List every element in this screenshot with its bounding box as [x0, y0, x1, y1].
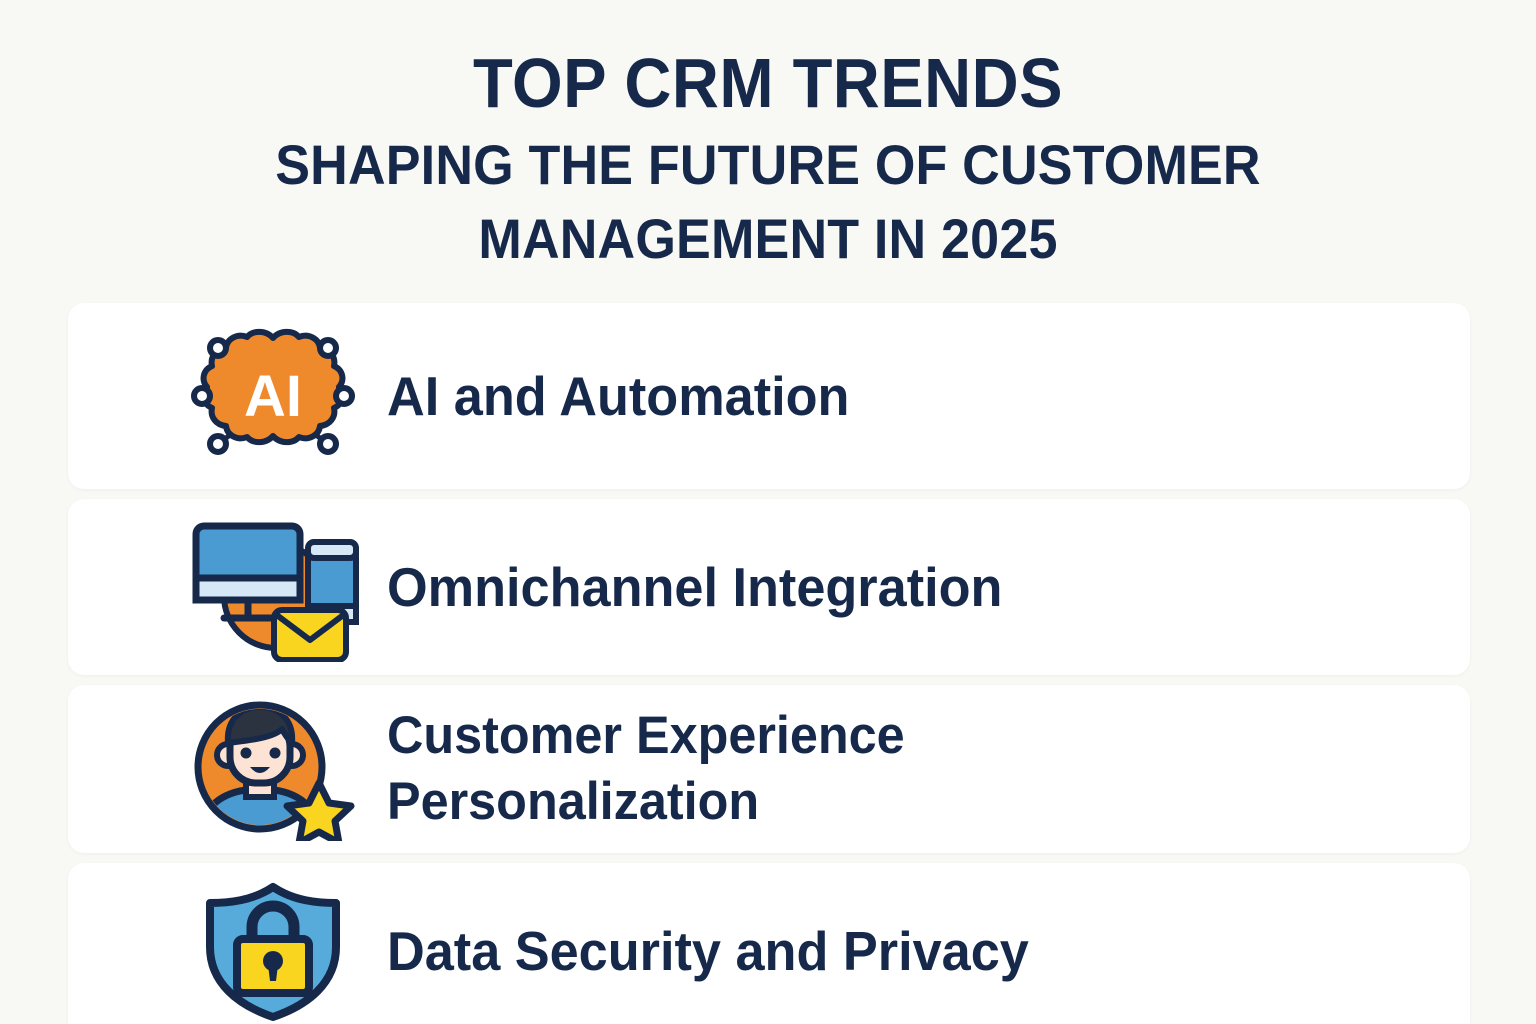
trend-list: AI AI and Automation: [68, 303, 1470, 1024]
shield-lock-icon: [173, 879, 373, 1023]
svg-text:AI: AI: [244, 364, 302, 429]
infographic-page: TOP CRM TRENDS SHAPING THE FUTURE OF CUS…: [0, 0, 1536, 1024]
trend-card-ai-automation[interactable]: AI AI and Automation: [68, 303, 1470, 489]
header: TOP CRM TRENDS SHAPING THE FUTURE OF CUS…: [0, 46, 1536, 276]
customer-star-avatar-icon: [173, 697, 373, 841]
trend-label-omnichannel: Omnichannel Integration: [387, 555, 1002, 620]
ai-brain-icon: AI: [173, 326, 373, 466]
omnichannel-devices-icon: [173, 512, 373, 662]
trend-label-ai-automation: AI and Automation: [387, 364, 849, 429]
trend-label-data-security: Data Security and Privacy: [387, 919, 1029, 984]
trend-label-personalization-line-2: Personalization: [387, 769, 905, 835]
trend-card-personalization[interactable]: Customer Experience Personalization: [68, 685, 1470, 853]
trend-label-personalization-line-1: Customer Experience: [387, 703, 905, 769]
trend-card-omnichannel[interactable]: Omnichannel Integration: [68, 499, 1470, 675]
page-subtitle: SHAPING THE FUTURE OF CUSTOMER MANAGEMEN…: [54, 128, 1482, 276]
trend-card-data-security[interactable]: Data Security and Privacy: [68, 863, 1470, 1024]
page-title: TOP CRM TRENDS: [54, 46, 1482, 120]
page-subtitle-line-2: MANAGEMENT IN 2025: [54, 202, 1482, 276]
trend-label-personalization: Customer Experience Personalization: [387, 703, 905, 834]
page-subtitle-line-1: SHAPING THE FUTURE OF CUSTOMER: [54, 128, 1482, 202]
